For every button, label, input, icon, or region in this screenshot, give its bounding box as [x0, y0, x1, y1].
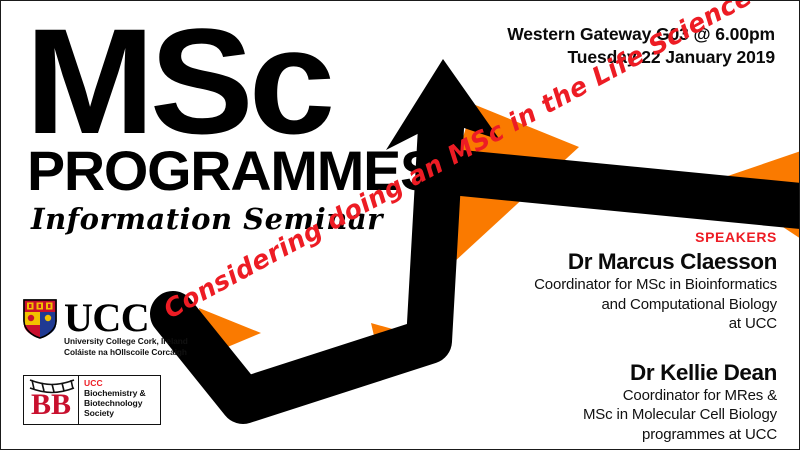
biochemistry-society-logo: BB UCC Biochemistry & Biotechnology Soci…	[23, 375, 161, 425]
black-zigzag	[173, 128, 800, 401]
poster-canvas: MSc PROGRAMMES Information Seminar Weste…	[0, 0, 800, 450]
orange-triangles	[199, 104, 800, 366]
ucc-wordmark: UCC	[64, 300, 188, 336]
ucc-subtitle-en: University College Cork, Ireland	[64, 336, 188, 347]
bb-label-line: Society	[84, 409, 146, 419]
bb-society-text: UCC Biochemistry & Biotechnology Society	[79, 376, 146, 424]
bb-monogram-mark: BB	[24, 376, 79, 424]
ucc-subtitle-ga: Coláiste na hOllscoile Corcaigh	[64, 347, 188, 358]
ucc-text-column: UCC University College Cork, Ireland Col…	[64, 299, 188, 358]
ucc-crest-icon	[23, 299, 57, 339]
ucc-logo: UCC University College Cork, Ireland Col…	[23, 299, 188, 358]
zigzag-path	[173, 128, 441, 401]
logo-stack: UCC University College Cork, Ireland Col…	[23, 299, 188, 425]
dna-helix-icon: BB	[24, 376, 78, 424]
svg-text:BB: BB	[31, 388, 71, 421]
